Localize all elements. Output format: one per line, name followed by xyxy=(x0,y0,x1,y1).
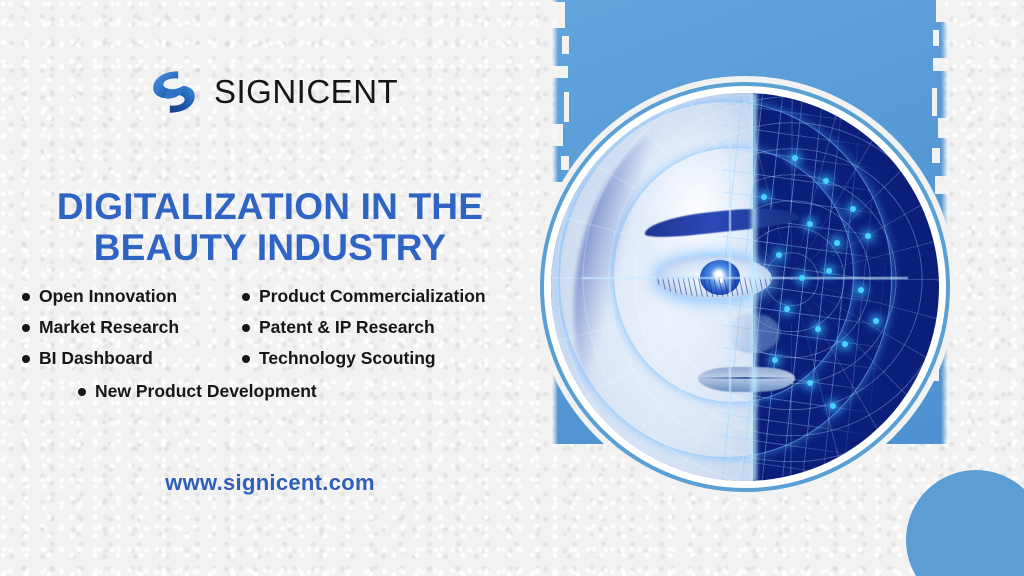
bullet-dot-icon xyxy=(242,355,250,363)
brand-logo[interactable]: SIGNICENT xyxy=(148,66,398,118)
bullet-dot-icon xyxy=(242,293,250,301)
list-item: Patent & IP Research xyxy=(242,317,542,338)
bullet-dot-icon xyxy=(22,355,30,363)
bullet-dot-icon xyxy=(242,324,250,332)
list-item: Product Commercialization xyxy=(242,286,542,307)
hero-image xyxy=(540,82,950,492)
signicent-s-logo-icon xyxy=(148,66,200,118)
page-title: DIGITALIZATION IN THE BEAUTY INDUSTRY xyxy=(0,186,540,269)
list-item: Technology Scouting xyxy=(242,348,542,369)
brand-wordmark: SIGNICENT xyxy=(214,73,398,111)
bullet-dot-icon xyxy=(78,388,86,396)
bullet-dot-icon xyxy=(22,293,30,301)
headline-line-1: DIGITALIZATION IN THE xyxy=(57,186,483,227)
list-item-label: Open Innovation xyxy=(39,286,177,307)
list-item-label: Product Commercialization xyxy=(259,286,486,307)
list-item: Open Innovation xyxy=(22,286,242,307)
list-item: BI Dashboard xyxy=(22,348,242,369)
bullet-dot-icon xyxy=(22,324,30,332)
banner-root: SIGNICENT DIGITALIZATION IN THE BEAUTY I… xyxy=(0,0,1024,576)
list-item-label: New Product Development xyxy=(95,381,317,402)
service-list: Open Innovation Product Commercializatio… xyxy=(0,286,540,402)
headline-line-2: BEAUTY INDUSTRY xyxy=(0,227,540,268)
list-item-label: Market Research xyxy=(39,317,179,338)
list-item-label: Patent & IP Research xyxy=(259,317,435,338)
list-item-label: BI Dashboard xyxy=(39,348,153,369)
website-link[interactable]: www.signicent.com xyxy=(0,470,540,496)
left-content: SIGNICENT DIGITALIZATION IN THE BEAUTY I… xyxy=(0,0,540,576)
list-item: New Product Development xyxy=(0,381,540,402)
node-cluster xyxy=(551,93,939,481)
list-item: Market Research xyxy=(22,317,242,338)
hero-image-content xyxy=(551,93,939,481)
list-item-label: Technology Scouting xyxy=(259,348,436,369)
